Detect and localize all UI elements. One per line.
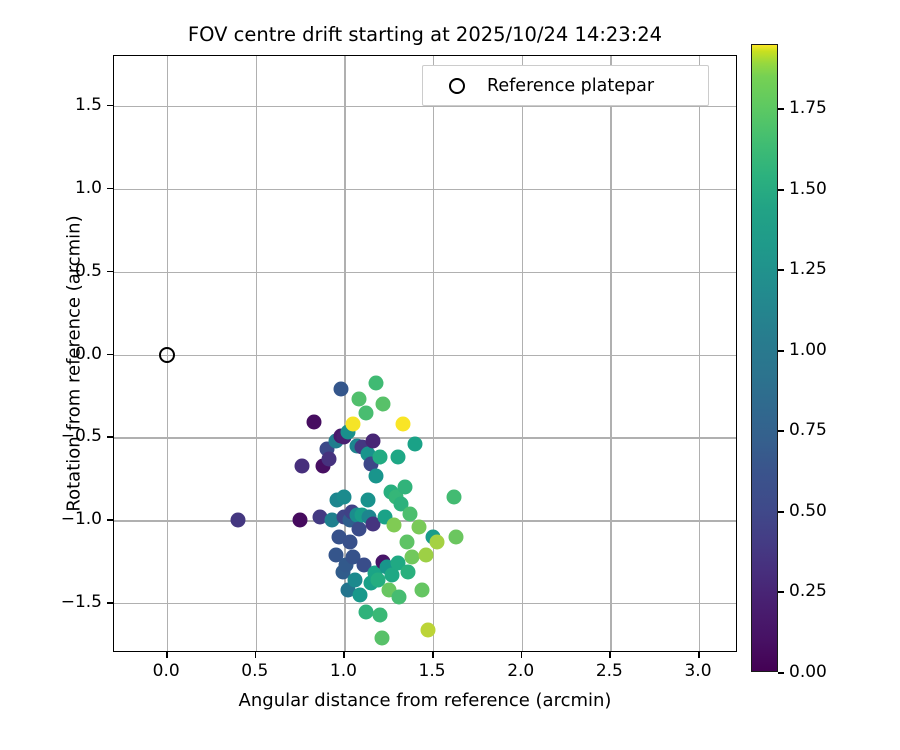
colorbar-tick-label-2: 0.50: [789, 501, 827, 521]
scatter-point: [346, 417, 361, 432]
x-tick-label-3: 1.5: [402, 661, 462, 681]
gridline-horizontal-5: [114, 520, 736, 521]
colorbar-tick-mark-4: [778, 350, 784, 352]
scatter-point: [337, 490, 352, 505]
scatter-point: [369, 468, 384, 483]
gridline-horizontal-2: [114, 272, 736, 273]
page-title: FOV centre drift starting at 2025/10/24 …: [113, 24, 737, 46]
colorbar-tick-mark-7: [778, 108, 784, 110]
gridline-vertical-3: [433, 56, 434, 651]
scatter-point: [365, 433, 380, 448]
scatter-point: [401, 564, 416, 579]
scatter-point: [399, 534, 414, 549]
gridline-horizontal-1: [114, 189, 736, 190]
scatter-point: [360, 493, 375, 508]
x-tick-label-6: 3.0: [668, 661, 728, 681]
colorbar-tick-label-5: 1.25: [789, 259, 827, 279]
scatter-point: [351, 521, 366, 536]
y-tick-mark-5: [107, 519, 113, 521]
scatter-point: [392, 589, 407, 604]
scatter-point: [390, 450, 405, 465]
scatter-point: [372, 607, 387, 622]
x-tick-mark-2: [343, 652, 345, 658]
scatter-point: [294, 458, 309, 473]
colorbar-tick-mark-1: [778, 591, 784, 593]
colorbar-tick-label-7: 1.75: [789, 98, 827, 118]
y-tick-mark-0: [107, 105, 113, 107]
gridline-horizontal-4: [114, 437, 736, 438]
gridline-vertical-1: [256, 56, 257, 651]
scatter-point: [376, 397, 391, 412]
y-tick-mark-3: [107, 354, 113, 356]
legend-circle-icon: [449, 78, 465, 94]
x-tick-mark-5: [609, 652, 611, 658]
colorbar-tick-label-6: 1.50: [789, 179, 827, 199]
x-tick-mark-6: [698, 652, 700, 658]
scatter-point: [369, 375, 384, 390]
scatter-point: [387, 518, 402, 533]
scatter-point: [358, 405, 373, 420]
y-tick-mark-6: [107, 602, 113, 604]
scatter-point: [372, 450, 387, 465]
colorbar-tick-mark-5: [778, 269, 784, 271]
legend: Reference platepar: [422, 65, 709, 106]
x-tick-label-0: 0.0: [136, 661, 196, 681]
scatter-point: [408, 437, 423, 452]
colorbar-tick-label-0: 0.00: [789, 662, 827, 682]
scatter-point: [411, 519, 426, 534]
x-tick-label-2: 1.0: [313, 661, 373, 681]
scatter-point: [231, 513, 246, 528]
plot-area: [113, 55, 737, 652]
figure-canvas: FOV centre drift starting at 2025/10/24 …: [0, 0, 900, 750]
x-tick-label-5: 2.5: [579, 661, 639, 681]
scatter-point: [293, 513, 308, 528]
colorbar-tick-mark-6: [778, 189, 784, 191]
colorbar-tick-mark-0: [778, 672, 784, 674]
scatter-point: [420, 622, 435, 637]
colorbar-tick-mark-2: [778, 511, 784, 513]
gridline-horizontal-3: [114, 355, 736, 356]
colorbar-tick-label-1: 0.25: [789, 581, 827, 601]
scatter-point: [429, 534, 444, 549]
scatter-point: [395, 417, 410, 432]
scatter-point: [397, 480, 412, 495]
scatter-point: [333, 382, 348, 397]
gridline-vertical-6: [699, 56, 700, 651]
colorbar-tick-label-4: 1.00: [789, 340, 827, 360]
scatter-point: [415, 582, 430, 597]
scatter-point: [307, 415, 322, 430]
y-tick-mark-1: [107, 188, 113, 190]
x-tick-mark-3: [432, 652, 434, 658]
scatter-point: [374, 631, 389, 646]
y-tick-label-6: −1.5: [26, 592, 102, 612]
colorbar-tick-mark-3: [778, 430, 784, 432]
colorbar: [751, 44, 778, 672]
scatter-point: [321, 451, 336, 466]
scatter-point: [449, 529, 464, 544]
y-tick-mark-4: [107, 436, 113, 438]
scatter-point: [447, 490, 462, 505]
y-tick-mark-2: [107, 271, 113, 273]
x-axis-label: Angular distance from reference (arcmin): [113, 690, 737, 711]
x-tick-label-4: 2.0: [491, 661, 551, 681]
y-tick-label-0: 1.5: [26, 95, 102, 115]
scatter-point: [404, 549, 419, 564]
scatter-point: [353, 587, 368, 602]
reference-platepar-marker: [159, 347, 175, 363]
x-tick-mark-0: [166, 652, 168, 658]
scatter-point: [358, 604, 373, 619]
gridline-vertical-5: [610, 56, 611, 651]
gridline-horizontal-6: [114, 603, 736, 604]
scatter-point: [342, 534, 357, 549]
scatter-point: [419, 548, 434, 563]
colorbar-tick-label-3: 0.75: [789, 420, 827, 440]
x-tick-label-1: 0.5: [225, 661, 285, 681]
gridline-vertical-4: [522, 56, 523, 651]
x-tick-mark-4: [521, 652, 523, 658]
y-axis-label: Rotation from reference (arcmin): [64, 154, 85, 574]
scatter-point: [348, 573, 363, 588]
x-tick-mark-1: [255, 652, 257, 658]
legend-item-label: Reference platepar: [487, 76, 654, 96]
